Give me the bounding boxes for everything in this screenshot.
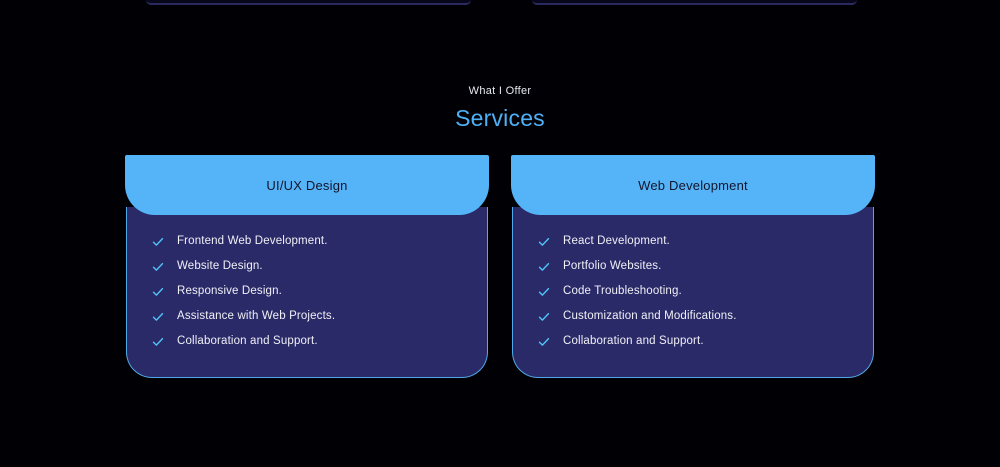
check-icon bbox=[152, 261, 164, 273]
list-item: Customization and Modifications. bbox=[538, 310, 873, 323]
previous-card-stub-left bbox=[146, 0, 471, 5]
list-item-label: Code Troubleshooting. bbox=[563, 285, 682, 298]
list-item: Collaboration and Support. bbox=[538, 335, 873, 348]
feature-list: Frontend Web Development. Website Design… bbox=[127, 235, 487, 348]
service-card-header: Web Development bbox=[511, 155, 875, 215]
list-item-label: Collaboration and Support. bbox=[177, 335, 318, 348]
check-icon bbox=[538, 286, 550, 298]
list-item-label: Customization and Modifications. bbox=[563, 310, 737, 323]
list-item: Frontend Web Development. bbox=[152, 235, 487, 248]
service-card: UI/UX Design Frontend Web Development. W… bbox=[125, 155, 489, 378]
list-item: Code Troubleshooting. bbox=[538, 285, 873, 298]
previous-card-stub-right bbox=[532, 0, 857, 5]
section-heading: What I Offer Services bbox=[0, 84, 1000, 132]
list-item-label: Collaboration and Support. bbox=[563, 335, 704, 348]
feature-list: React Development. Portfolio Websites. C… bbox=[513, 235, 873, 348]
list-item-label: Assistance with Web Projects. bbox=[177, 310, 335, 323]
list-item-label: Website Design. bbox=[177, 260, 263, 273]
list-item: React Development. bbox=[538, 235, 873, 248]
check-icon bbox=[538, 261, 550, 273]
check-icon bbox=[152, 236, 164, 248]
service-card-header: UI/UX Design bbox=[125, 155, 489, 215]
list-item: Portfolio Websites. bbox=[538, 260, 873, 273]
list-item: Website Design. bbox=[152, 260, 487, 273]
list-item: Assistance with Web Projects. bbox=[152, 310, 487, 323]
list-item-label: React Development. bbox=[563, 235, 670, 248]
section-eyebrow: What I Offer bbox=[0, 84, 1000, 98]
check-icon bbox=[538, 236, 550, 248]
check-icon bbox=[538, 336, 550, 348]
service-card-title: Web Development bbox=[638, 178, 748, 193]
check-icon bbox=[152, 336, 164, 348]
services-section: What I Offer Services UI/UX Design Front… bbox=[0, 0, 1000, 467]
service-card-title: UI/UX Design bbox=[266, 178, 347, 193]
service-card-body: Frontend Web Development. Website Design… bbox=[126, 207, 488, 378]
check-icon bbox=[152, 311, 164, 323]
check-icon bbox=[538, 311, 550, 323]
check-icon bbox=[152, 286, 164, 298]
service-cards-container: UI/UX Design Frontend Web Development. W… bbox=[125, 155, 875, 378]
service-card: Web Development React Development. Portf… bbox=[511, 155, 875, 378]
list-item-label: Portfolio Websites. bbox=[563, 260, 662, 273]
list-item-label: Frontend Web Development. bbox=[177, 235, 328, 248]
list-item: Responsive Design. bbox=[152, 285, 487, 298]
page-title: Services bbox=[0, 104, 1000, 132]
list-item: Collaboration and Support. bbox=[152, 335, 487, 348]
service-card-body: React Development. Portfolio Websites. C… bbox=[512, 207, 874, 378]
list-item-label: Responsive Design. bbox=[177, 285, 282, 298]
